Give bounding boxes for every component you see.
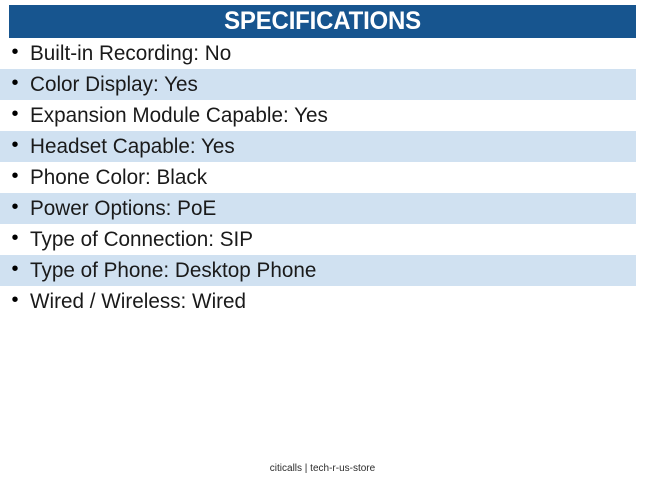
bullet-icon: • (0, 166, 30, 189)
list-item: • Expansion Module Capable: Yes (0, 100, 645, 131)
spec-row-text: Wired / Wireless: Wired (30, 291, 246, 312)
bullet-icon: • (0, 135, 30, 158)
list-item: • Phone Color: Black (0, 162, 645, 193)
spec-row-text: Built-in Recording: No (30, 43, 231, 64)
list-item: • Color Display: Yes (0, 69, 645, 100)
specifications-sheet: SPECIFICATIONS • Built-in Recording: No … (0, 0, 645, 481)
bullet-icon: • (0, 290, 30, 313)
spec-row-text: Phone Color: Black (30, 167, 207, 188)
bullet-icon: • (0, 228, 30, 251)
bullet-icon: • (0, 259, 30, 282)
list-item: • Wired / Wireless: Wired (0, 286, 645, 317)
list-item: • Type of Phone: Desktop Phone (0, 255, 645, 286)
bullet-icon: • (0, 73, 30, 96)
spec-row-text: Color Display: Yes (30, 74, 198, 95)
list-item: • Built-in Recording: No (0, 38, 645, 69)
specifications-header-bar: SPECIFICATIONS (9, 5, 636, 38)
spec-row-text: Type of Connection: SIP (30, 229, 253, 250)
spec-row-text: Type of Phone: Desktop Phone (30, 260, 316, 281)
list-item: • Power Options: PoE (0, 193, 645, 224)
bullet-icon: • (0, 197, 30, 220)
bullet-icon: • (0, 104, 30, 127)
bullet-icon: • (0, 42, 30, 65)
list-item: • Type of Connection: SIP (0, 224, 645, 255)
spec-row-text: Expansion Module Capable: Yes (30, 105, 328, 126)
list-item: • Headset Capable: Yes (0, 131, 645, 162)
specifications-list: • Built-in Recording: No • Color Display… (0, 38, 645, 317)
footer: citicalls | tech-r-us-store (0, 458, 645, 476)
spec-row-text: Headset Capable: Yes (30, 136, 235, 157)
spec-row-text: Power Options: PoE (30, 198, 216, 219)
footer-attribution: citicalls | tech-r-us-store (270, 464, 375, 474)
specifications-title: SPECIFICATIONS (224, 9, 421, 34)
